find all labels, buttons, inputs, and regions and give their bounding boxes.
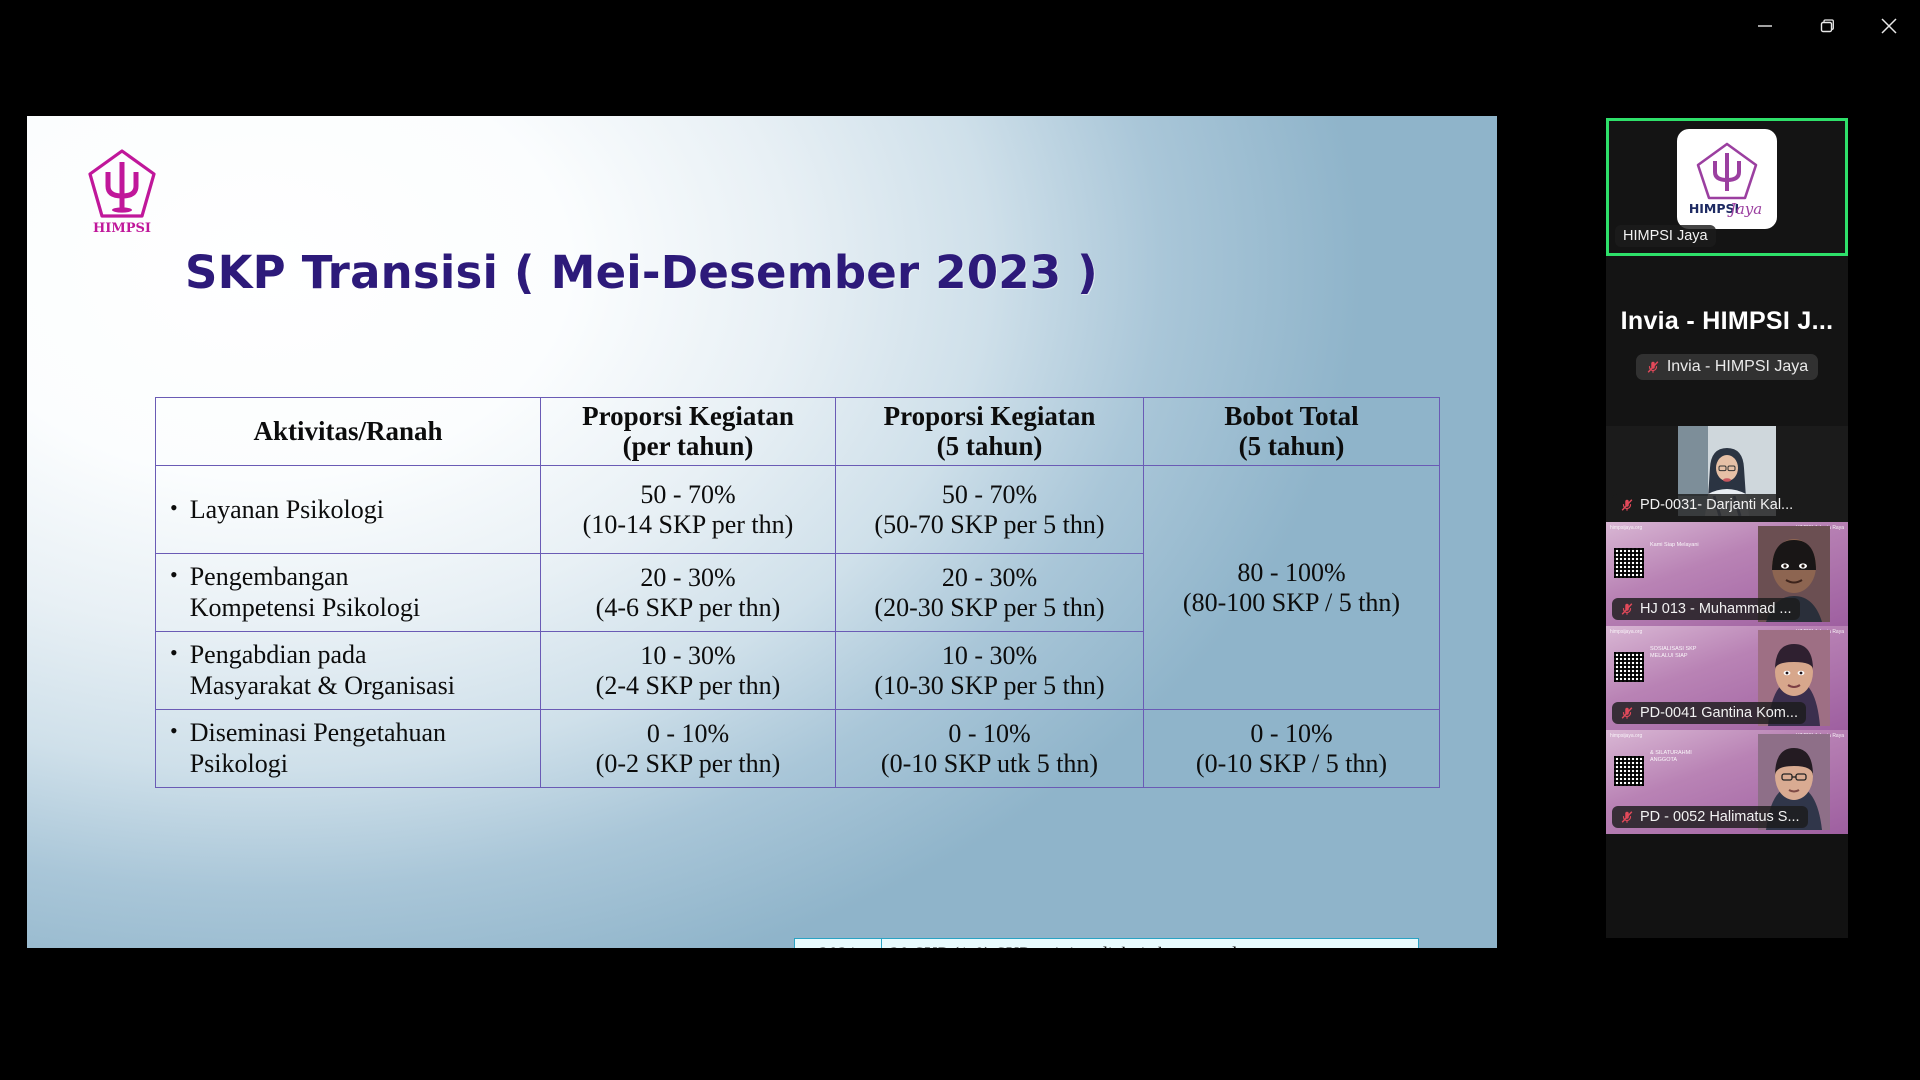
header-aktivitas: Aktivitas/Ranah: [156, 398, 541, 466]
qr-code-icon: [1614, 756, 1644, 786]
header-proporsi-per-tahun: Proporsi Kegiatan (per tahun): [541, 398, 836, 466]
participant-name: PD-0041 Gantina Kom...: [1640, 705, 1798, 721]
cell-five-year: 10 - 30% (10-30 SKP per 5 thn): [836, 632, 1144, 710]
participant-name: PD - 0052 Halimatus S...: [1640, 809, 1800, 825]
page-title: SKP Transisi ( Mei-Desember 2023 ): [185, 246, 1098, 299]
skp-transition-table: Aktivitas/Ranah Proporsi Kegiatan (per t…: [155, 397, 1440, 788]
training-years-table: 2021 20 SKP (1-0) SKP training diakui sk…: [794, 938, 1419, 948]
thumb-top-left-text: himpsijaya.org: [1610, 525, 1642, 531]
cell-five-year: 20 - 30% (20-30 SKP per 5 thn): [836, 554, 1144, 632]
cell-per-year: 0 - 10% (0-2 SKP per thn): [541, 710, 836, 788]
active-speaker-tile[interactable]: Invia - HIMPSI J... Invia - HIMPSI Jaya: [1606, 256, 1848, 426]
participant-name-badge: HJ 013 - Muhammad ...: [1612, 598, 1800, 620]
mic-muted-icon: [1620, 602, 1634, 616]
cell-per-year: 10 - 30% (2-4 SKP per thn): [541, 632, 836, 710]
cell-activity: • Pengabdian pada Masyarakat & Organisas…: [156, 632, 541, 710]
restore-icon[interactable]: [1796, 0, 1858, 52]
cell-bobot-total-last: 0 - 10% (0-10 SKP / 5 thn): [1144, 710, 1440, 788]
minimize-icon[interactable]: [1734, 0, 1796, 52]
screen-share-stage: HIMPSI SKP Transisi ( Mei-Desember 2023 …: [27, 72, 1497, 992]
participant-tile[interactable]: himpsijaya.org HIMPSI Jakarta Raya & SIL…: [1606, 730, 1848, 834]
participant-name-badge: HIMPSI Jaya: [1615, 225, 1716, 247]
participant-tile[interactable]: himpsijaya.org HIMPSI Jakarta Raya SOSIA…: [1606, 626, 1848, 730]
cell-five-year: 0 - 10% (0-10 SKP utk 5 thn): [836, 710, 1144, 788]
svg-text:Jaya: Jaya: [1727, 200, 1762, 218]
cell-per-year: 20 - 30% (4-6 SKP per thn): [541, 554, 836, 632]
participant-tile[interactable]: PD-0031- Darjanti Kal...: [1606, 426, 1848, 522]
svg-text:HIMPSI: HIMPSI: [93, 221, 151, 236]
mic-muted-icon: [1620, 706, 1634, 720]
cell-five-year: 50 - 70% (50-70 SKP per 5 thn): [836, 466, 1144, 554]
active-speaker-chip: Invia - HIMPSI Jaya: [1636, 354, 1818, 380]
header-bobot-total: Bobot Total (5 tahun): [1144, 398, 1440, 466]
thumb-subtitle: & SILATURAHMI ANGGOTA: [1650, 750, 1692, 763]
cell-activity: • Pengembangan Kompetensi Psikologi: [156, 554, 541, 632]
bullet-icon: •: [170, 495, 178, 521]
close-icon[interactable]: [1858, 0, 1920, 52]
header-proporsi-5-tahun: Proporsi Kegiatan (5 tahun): [836, 398, 1144, 466]
thumb-headline: Kami Siap Melayani: [1650, 542, 1699, 548]
cell-activity: • Diseminasi Pengetahuan Psikologi: [156, 710, 541, 788]
participant-rail[interactable]: HIMPSI Jaya HIMPSI Jaya Invia - HIMPSI J…: [1606, 118, 1848, 938]
mic-muted-icon: [1646, 360, 1660, 374]
himpsi-jaya-logo-icon: HIMPSI Jaya: [1677, 129, 1777, 229]
participant-name-badge: PD-0031- Darjanti Kal...: [1612, 494, 1801, 516]
cell-activity: • Layanan Psikologi: [156, 466, 541, 554]
qr-code-icon: [1614, 548, 1644, 578]
table-header-row: Aktivitas/Ranah Proporsi Kegiatan (per t…: [156, 398, 1440, 466]
table-row: • Layanan Psikologi 50 - 70% (10-14 SKP …: [156, 466, 1440, 554]
presentation-slide: HIMPSI SKP Transisi ( Mei-Desember 2023 …: [27, 116, 1497, 948]
participant-tile[interactable]: himpsijaya.org HIMPSI Jakarta Raya Kami …: [1606, 522, 1848, 626]
participant-tile-active[interactable]: HIMPSI Jaya HIMPSI Jaya: [1606, 118, 1848, 256]
participant-name-badge: PD-0041 Gantina Kom...: [1612, 702, 1806, 724]
participant-name-badge: PD - 0052 Halimatus S...: [1612, 806, 1808, 828]
thumb-top-left-text: himpsijaya.org: [1610, 733, 1642, 739]
list-item: 2021 20 SKP (1-0) SKP training diakui sk…: [795, 939, 1419, 949]
cell-per-year: 50 - 70% (10-14 SKP per thn): [541, 466, 836, 554]
year-cell: 2021: [795, 939, 882, 949]
mic-muted-icon: [1620, 810, 1634, 824]
window-controls[interactable]: [1734, 0, 1920, 52]
participant-name: HJ 013 - Muhammad ...: [1640, 601, 1792, 617]
participant-name: HIMPSI Jaya: [1623, 228, 1708, 244]
bullet-icon: •: [170, 562, 178, 588]
qr-code-icon: [1614, 652, 1644, 682]
active-speaker-name: Invia - HIMPSI J...: [1609, 307, 1845, 336]
thumb-top-left-text: himpsijaya.org: [1610, 629, 1642, 635]
himpsi-logo-icon: HIMPSI: [84, 146, 160, 238]
bullet-icon: •: [170, 640, 178, 666]
thumb-subtitle: SOSIALISASI SKP MELALUI SIAP: [1650, 646, 1696, 659]
participant-name: Invia - HIMPSI Jaya: [1667, 358, 1808, 376]
cell-bobot-total-merged: 80 - 100% (80-100 SKP / 5 thn): [1144, 466, 1440, 710]
note-cell: 20 SKP (1-0) SKP training diakui skor ap…: [882, 939, 1419, 949]
table-row: • Diseminasi Pengetahuan Psikologi 0 - 1…: [156, 710, 1440, 788]
mic-muted-icon: [1620, 498, 1634, 512]
bullet-icon: •: [170, 718, 178, 744]
participant-name: PD-0031- Darjanti Kal...: [1640, 497, 1793, 513]
